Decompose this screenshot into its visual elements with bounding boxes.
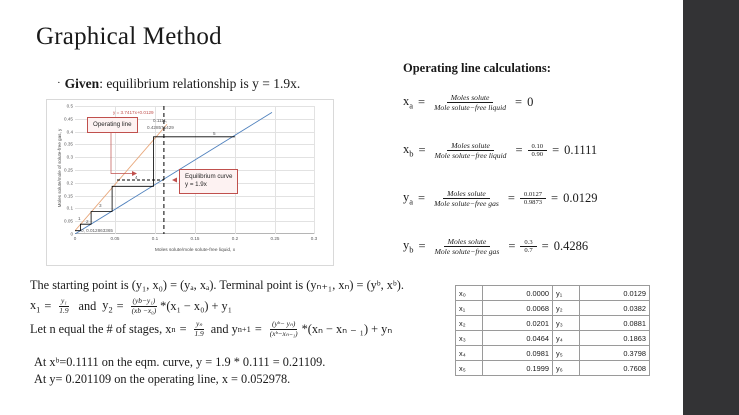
equation-xa-denominator: Mole solute−free liquid <box>430 103 510 112</box>
chart-y-tick: 0.2 <box>67 180 73 185</box>
chart-y-tick: 0.35 <box>64 142 73 147</box>
equation-xb-result: 0.1111 <box>564 143 597 158</box>
stage-values-table: x₀ 0.0000 y₁ 0.0129 x₁ 0.0068 y₂ 0.0382 … <box>455 285 650 376</box>
equation-ya-result: 0.0129 <box>563 191 597 206</box>
operating-line-callout-text: Operating line <box>93 121 132 128</box>
chart-x-tick: 0 <box>74 236 77 241</box>
table-row: x₄ 0.0981 y₅ 0.3798 <box>456 346 650 361</box>
table-cell-y-value: 0.1863 <box>580 331 650 346</box>
equation-xb-sub: b <box>409 149 413 159</box>
equals-sign: = <box>255 322 262 337</box>
body-x1-sub: 1 <box>36 305 40 314</box>
table-cell-y-value: 0.7608 <box>580 361 650 376</box>
body-line-stages: Let n equal the # of stages, xn = yₙ 1.9… <box>30 320 392 338</box>
table-cell-x-value: 0.0201 <box>483 316 553 331</box>
equals-sign: = <box>419 143 426 158</box>
equation-xb-numerator: Moles solute <box>447 141 494 151</box>
chart-y-tick: 0 <box>70 232 73 237</box>
table-row: x₅ 0.1999 y₆ 0.7608 <box>456 361 650 376</box>
body-y2-denominator: (xb −x₀) <box>130 307 159 316</box>
body-yn1-denominator: (xᵇ−xₙ₋₁) <box>268 330 300 339</box>
body-y2-lhs: y2 <box>102 298 112 314</box>
chart-x-tick: 0.25 <box>271 236 280 241</box>
equation-xa-numerator: Moles solute <box>447 93 494 103</box>
point-label-xb-line2: 0.428571429 <box>147 125 174 130</box>
table-cell-y-value: 0.0129 <box>580 286 650 301</box>
operating-line-calculations-heading: Operating line calculations: <box>403 61 551 76</box>
equals-sign: = <box>508 239 515 254</box>
table-cell-x-value: 0.0464 <box>483 331 553 346</box>
equation-xb-value-denominator: 0.90 <box>528 151 548 158</box>
table-cell-x-key: x₁ <box>456 301 483 316</box>
equals-sign: = <box>508 191 515 206</box>
body-line-xb-eqm: At xᵇ=0.1111 on the eqm. curve, y = 1.9 … <box>34 355 325 370</box>
table-cell-y-key: y₂ <box>553 301 580 316</box>
equation-xa-lhs: xa <box>403 94 413 111</box>
given-label: Given <box>65 76 100 91</box>
equation-ya-sub: a <box>409 197 413 207</box>
table-cell-x-key: x₃ <box>456 331 483 346</box>
equation-yb-value-numerator: 0.3 <box>520 239 536 247</box>
table-cell-y-value: 0.0881 <box>580 316 650 331</box>
equation-yb-lhs: yb <box>403 238 414 255</box>
body-yn1-sub: n+1 <box>238 325 251 334</box>
stage-label-1: 1 <box>78 216 81 221</box>
chart-x-tick: 0.2 <box>232 236 238 241</box>
chart-x-tick: 0.05 <box>111 236 120 241</box>
equilibrium-curve-callout-line1: Equilibrium curve <box>185 173 232 181</box>
body-line-starting-point: The starting point is (y₁, x₀) = (yₐ, xₐ… <box>30 278 404 293</box>
equation-ya: ya = Moles solute Mole solute−free gas =… <box>403 189 597 208</box>
equals-sign: = <box>542 239 549 254</box>
table-cell-x-key: x₀ <box>456 286 483 301</box>
graphical-method-chart: Moles solute/mole of solute-free gas, y … <box>46 99 334 266</box>
operating-line-callout: Operating line <box>87 117 138 133</box>
equation-xa-fraction: Moles solute Mole solute−free liquid <box>430 93 510 112</box>
table-cell-y-key: y₆ <box>553 361 580 376</box>
slide-canvas: Graphical Method ·Given: equilibrium rel… <box>0 0 683 415</box>
equation-xb-value-numerator: 0.10 <box>528 143 548 151</box>
stage-label-2: 2 <box>86 219 89 224</box>
chart-x-axis-label: Moles solute/mole solute-free liquid, x <box>75 248 315 253</box>
equation-xa-sub: a <box>409 101 413 111</box>
stage-label-3: 3 <box>99 203 102 208</box>
equation-ya-lhs: ya <box>403 190 413 207</box>
operating-line-equation-label: y = 3.7417x+0.0129 <box>113 110 154 115</box>
equation-yb: yb = Moles solute Mole solute−free gas =… <box>403 237 588 256</box>
table-row: x₀ 0.0000 y₁ 0.0129 <box>456 286 650 301</box>
equation-xb: xb = Moles solute Mole solute−free liqui… <box>403 141 597 160</box>
chart-y-tick: 0.45 <box>64 116 73 121</box>
chart-y-tick: 0.15 <box>64 193 73 198</box>
equals-sign: = <box>419 239 426 254</box>
chart-y-tick: 0.3 <box>67 155 73 160</box>
equation-ya-value-fraction: 0.0127 0.9873 <box>520 191 546 206</box>
body-y2-tail: *(x₁ − x₀) + y₁ <box>160 299 232 314</box>
body-x1-lhs: x1 <box>30 298 40 314</box>
equation-yb-value-denominator: 0.7 <box>520 247 536 254</box>
body-y2-sub: 2 <box>108 305 112 314</box>
body-yn1-fraction: (yᵇ− yₙ) (xᵇ−xₙ₋₁) <box>268 320 300 338</box>
table-cell-x-value: 0.0068 <box>483 301 553 316</box>
body-yn1-tail: *(xₙ − xₙ ₋ ₁) + yₙ <box>302 322 393 337</box>
table-cell-x-value: 0.1999 <box>483 361 553 376</box>
chart-plot-area: Moles solute/mole of solute-free gas, y … <box>75 106 315 234</box>
equals-sign: = <box>117 299 124 314</box>
given-bullet: ·Given: equilibrium relationship is y = … <box>57 76 300 92</box>
body-xn-denominator: 1.9 <box>193 330 206 339</box>
point-label-x0: 0, 0.012863365 <box>81 228 113 233</box>
equals-sign: = <box>418 95 425 110</box>
table-cell-x-value: 0.0981 <box>483 346 553 361</box>
table-cell-y-key: y₃ <box>553 316 580 331</box>
table-cell-y-key: y₁ <box>553 286 580 301</box>
table-cell-y-value: 0.3798 <box>580 346 650 361</box>
stage-label-5: 5 <box>213 131 216 136</box>
equation-xb-fraction: Moles solute Mole solute−free liquid <box>431 141 511 160</box>
table-row: x₁ 0.0068 y₂ 0.0382 <box>456 301 650 316</box>
table-cell-x-key: x₅ <box>456 361 483 376</box>
chart-x-tick: 0.15 <box>191 236 200 241</box>
equation-xa: xa = Moles solute Mole solute−free liqui… <box>403 93 533 112</box>
table-cell-x-value: 0.0000 <box>483 286 553 301</box>
body-y2-fraction: (yb−y₁) (xb −x₀) <box>130 297 159 315</box>
equals-sign: = <box>44 299 51 314</box>
body-line-x1-y2: x1 = y₁ 1.9 and y2 = (yb−y₁) (xb −x₀) *(… <box>30 297 232 315</box>
equals-sign: = <box>515 95 522 110</box>
table-cell-y-value: 0.0382 <box>580 301 650 316</box>
body-conjunction-and: and <box>79 299 97 314</box>
equilibrium-curve-callout-line2: y = 1.9x <box>185 181 232 189</box>
table-cell-y-key: y₅ <box>553 346 580 361</box>
equals-sign: = <box>551 191 558 206</box>
table-cell-y-key: y₄ <box>553 331 580 346</box>
equals-sign: = <box>180 322 187 337</box>
equation-ya-fraction: Moles solute Mole solute−free gas <box>430 189 503 208</box>
equation-xb-denominator: Mole solute−free liquid <box>431 151 511 160</box>
point-label-xb-line1: 0.1111, <box>153 118 167 123</box>
equation-yb-result: 0.4286 <box>554 239 588 254</box>
page-title: Graphical Method <box>36 23 222 51</box>
equation-xb-lhs: xb <box>403 142 414 159</box>
right-sidebar-panel <box>683 0 739 415</box>
equation-ya-denominator: Mole solute−free gas <box>430 199 503 208</box>
body-xn-fraction: yₙ 1.9 <box>193 320 206 338</box>
body-yn1-prefix: and y <box>211 322 238 337</box>
equals-sign: = <box>515 143 522 158</box>
chart-x-tick: 0.3 <box>311 236 317 241</box>
body-x1-fraction: y₁ 1.9 <box>57 297 70 315</box>
equals-sign: = <box>552 143 559 158</box>
chart-y-tick: 0.1 <box>67 206 73 211</box>
equation-yb-value-fraction: 0.3 0.7 <box>520 239 536 254</box>
equilibrium-curve-arrow <box>172 178 177 183</box>
equals-sign: = <box>418 191 425 206</box>
stage-label-4: 4 <box>135 175 138 180</box>
equation-yb-fraction: Moles solute Mole solute−free gas <box>431 237 504 256</box>
equation-yb-sub: b <box>409 245 413 255</box>
chart-y-tick: 0.05 <box>64 219 73 224</box>
equation-yb-numerator: Moles solute <box>444 237 491 247</box>
equation-xb-value-fraction: 0.10 0.90 <box>528 143 548 158</box>
equation-yb-denominator: Mole solute−free gas <box>431 247 504 256</box>
body-line-y-operating: At y= 0.201109 on the operating line, x … <box>34 372 290 387</box>
chart-y-tick: 0.4 <box>67 129 73 134</box>
chart-x-tick: 0.1 <box>152 236 158 241</box>
equation-ya-value-numerator: 0.0127 <box>520 191 546 199</box>
equation-ya-value-denominator: 0.9873 <box>520 199 546 206</box>
chart-y-tick: 0.5 <box>67 104 73 109</box>
table-row: x₃ 0.0464 y₄ 0.1863 <box>456 331 650 346</box>
table-row: x₂ 0.0201 y₃ 0.0881 <box>456 316 650 331</box>
equilibrium-curve-callout: Equilibrium curve y = 1.9x <box>179 169 238 194</box>
table-cell-x-key: x₄ <box>456 346 483 361</box>
body-stages-prefix: Let n equal the # of stages, x <box>30 322 171 337</box>
given-text: : equilibrium relationship is y = 1.9x. <box>99 76 300 91</box>
equation-xa-result: 0 <box>527 95 533 110</box>
body-xn-sub: n <box>171 325 175 334</box>
table-cell-x-key: x₂ <box>456 316 483 331</box>
equation-ya-numerator: Moles solute <box>443 189 490 199</box>
chart-y-tick: 0.25 <box>64 168 73 173</box>
body-x1-denominator: 1.9 <box>57 307 70 316</box>
bullet-glyph: · <box>57 77 61 89</box>
